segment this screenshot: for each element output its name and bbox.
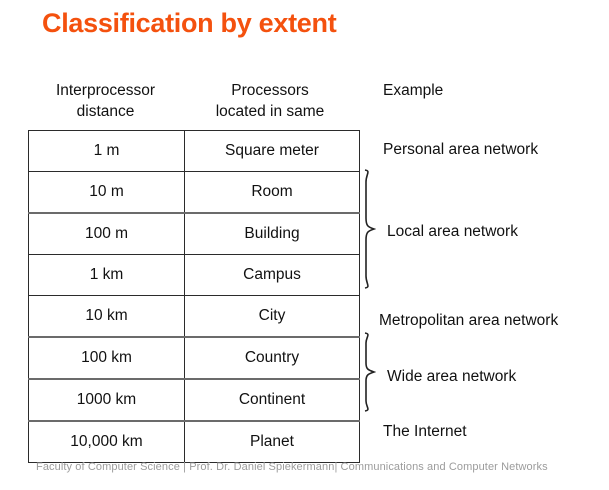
cell-distance: 10 m bbox=[29, 172, 185, 214]
column-header-example: Example bbox=[383, 80, 583, 101]
cell-located: Room bbox=[185, 172, 360, 214]
cell-distance: 1 m bbox=[29, 131, 185, 172]
page-title: Classification by extent bbox=[42, 8, 336, 39]
table-row: 10,000 km Planet bbox=[29, 421, 360, 463]
cell-distance: 1 km bbox=[29, 255, 185, 296]
cell-located: Country bbox=[185, 337, 360, 379]
brace-wide-area-network bbox=[362, 331, 376, 413]
cell-distance: 10,000 km bbox=[29, 421, 185, 463]
table-row: 100 m Building bbox=[29, 213, 360, 255]
table-row: 1 km Campus bbox=[29, 255, 360, 296]
table-row: 10 m Room bbox=[29, 172, 360, 214]
table-row: 10 km City bbox=[29, 296, 360, 338]
example-label-wide-area-network: Wide area network bbox=[387, 368, 516, 386]
column-header-interprocessor-distance: Interprocessor distance bbox=[28, 80, 183, 122]
column-header-processors-located-in-same: Processors located in same bbox=[183, 80, 357, 122]
cell-located: City bbox=[185, 296, 360, 338]
cell-distance: 10 km bbox=[29, 296, 185, 338]
example-label-local-area-network: Local area network bbox=[387, 223, 518, 241]
cell-located: Campus bbox=[185, 255, 360, 296]
slide-footer: Faculty of Computer Science | Prof. Dr. … bbox=[36, 461, 548, 473]
table-row: 100 km Country bbox=[29, 337, 360, 379]
brace-local-area-network bbox=[362, 168, 376, 290]
cell-located: Planet bbox=[185, 421, 360, 463]
cell-located: Building bbox=[185, 213, 360, 255]
table-row: 1000 km Continent bbox=[29, 379, 360, 421]
cell-distance: 1000 km bbox=[29, 379, 185, 421]
classification-table: 1 m Square meter 10 m Room 100 m Buildin… bbox=[28, 130, 360, 463]
cell-distance: 100 m bbox=[29, 213, 185, 255]
table-row: 1 m Square meter bbox=[29, 131, 360, 172]
example-label-the-internet: The Internet bbox=[383, 423, 467, 441]
cell-distance: 100 km bbox=[29, 337, 185, 379]
cell-located: Continent bbox=[185, 379, 360, 421]
example-label-metropolitan-area-network: Metropolitan area network bbox=[379, 312, 558, 330]
cell-located: Square meter bbox=[185, 131, 360, 172]
example-label-personal-area-network: Personal area network bbox=[383, 141, 538, 159]
